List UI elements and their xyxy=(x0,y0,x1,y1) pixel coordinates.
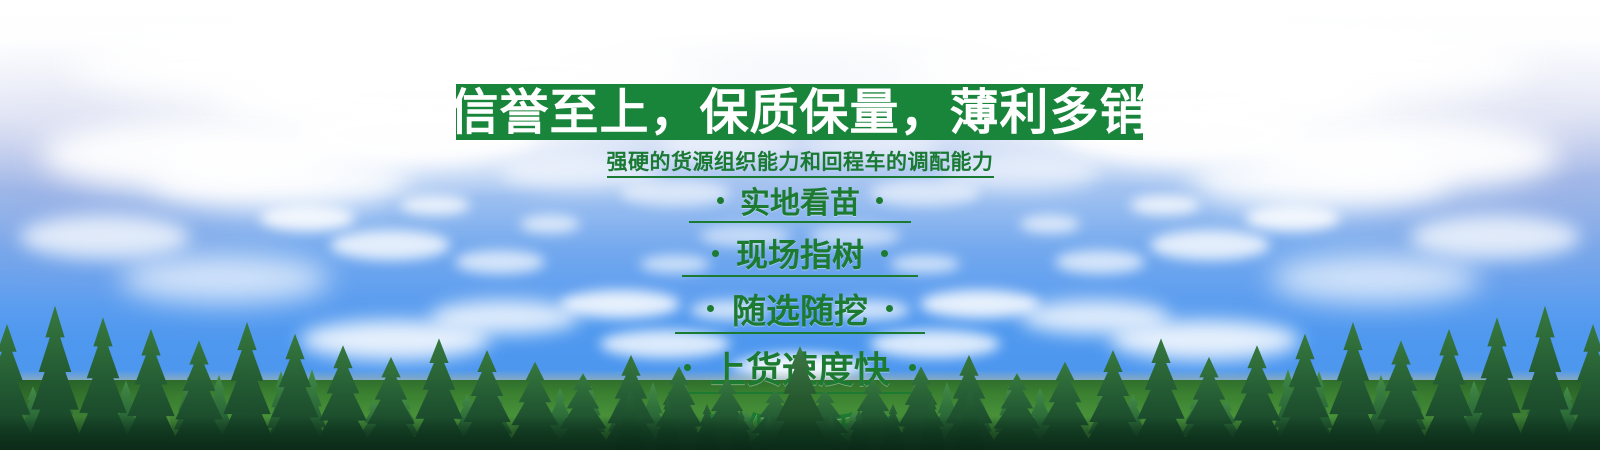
headline-text: 信誉至上，保质保量，薄利多销 xyxy=(450,88,1150,137)
bullet-dot-icon xyxy=(881,250,888,257)
bullet-dot-icon xyxy=(886,305,893,312)
bullet-dot-icon xyxy=(712,250,719,257)
promo-banner: 信誉至上，保质保量，薄利多销 强硬的货源组织能力和回程车的调配能力 实地看苗现场… xyxy=(0,0,1600,450)
headline-bar: 信誉至上，保质保量，薄利多销 xyxy=(456,84,1143,140)
feature-item: 现场指树 xyxy=(695,230,905,276)
bullet-dot-icon xyxy=(717,197,724,204)
feature-label: 现场指树 xyxy=(736,230,864,276)
forest-understory xyxy=(0,416,1600,450)
feature-separator xyxy=(675,332,925,334)
bullet-dot-icon xyxy=(684,364,691,371)
feature-separator xyxy=(689,221,911,223)
feature-separator xyxy=(682,275,918,277)
bullet-dot-icon xyxy=(876,197,883,204)
feature-label: 随选随挖 xyxy=(732,284,868,333)
subtitle: 强硬的货源组织能力和回程车的调配能力 xyxy=(0,146,1600,176)
bullet-dot-icon xyxy=(707,305,714,312)
feature-item: 实地看苗 xyxy=(701,178,899,222)
feature-item: 随选随挖 xyxy=(689,284,911,333)
subtitle-text: 强硬的货源组织能力和回程车的调配能力 xyxy=(607,150,994,178)
feature-label: 实地看苗 xyxy=(740,178,860,222)
bullet-dot-icon xyxy=(909,364,916,371)
